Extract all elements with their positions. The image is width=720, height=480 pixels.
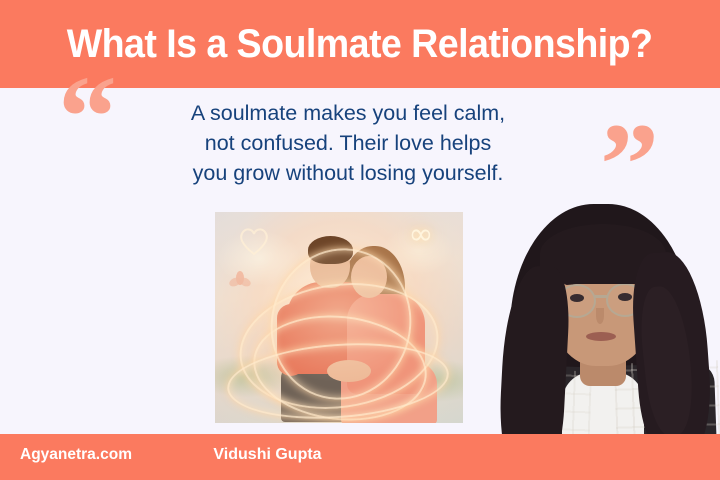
footer-bar: Agyanetra.com Vidushi Gupta: [0, 434, 720, 480]
quote-line-1: A soulmate makes you feel calm,: [128, 98, 568, 128]
quote-close-mark: ”: [600, 140, 676, 200]
quote-card: What Is a Soulmate Relationship? “ A sou…: [0, 0, 720, 480]
portrait-lips: [586, 332, 616, 341]
quote-line-3: you grow without losing yourself.: [128, 158, 568, 188]
page-title: What Is a Soulmate Relationship?: [67, 24, 653, 64]
quote-open-glyph: “: [58, 58, 134, 176]
author-name: Vidushi Gupta: [0, 446, 720, 464]
illustration-glow-overlay: [215, 212, 463, 423]
glasses-icon-bridge: [595, 295, 607, 298]
portrait-nose: [596, 308, 604, 324]
quote-open-mark: “: [58, 92, 134, 148]
quote-text: A soulmate makes you feel calm, not conf…: [128, 98, 568, 188]
couple-illustration: ∞: [215, 212, 463, 423]
quote-line-2: not confused. Their love helps: [128, 128, 568, 158]
